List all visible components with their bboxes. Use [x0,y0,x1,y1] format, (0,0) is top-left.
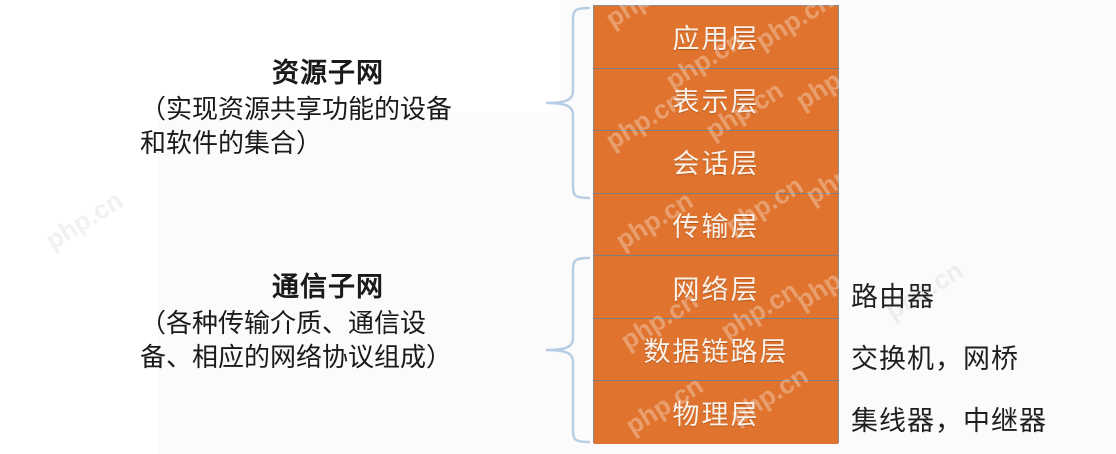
communication-subnet-description-line1: （各种传输介质、通信设 [140,307,538,341]
diagram-canvas: 资源子网 （实现资源共享功能的设备 和软件的集合） 通信子网 （各种传输介质、通… [0,0,1116,454]
resource-subnet-text: 资源子网 （实现资源共享功能的设备 和软件的集合） [118,58,538,161]
device-label-router: 路由器 [851,275,935,314]
layer-application[interactable]: 应用层 [594,6,838,69]
communication-subnet-brace-icon [544,256,590,444]
layer-data-link[interactable]: 数据链路层 [594,319,838,382]
communication-subnet-text: 通信子网 （各种传输介质、通信设 备、相应的网络协议组成） [118,272,538,375]
communication-subnet-description-line2: 备、相应的网络协议组成） [140,341,538,375]
layer-data-link-label: 数据链路层 [644,330,789,369]
communication-subnet-title: 通信子网 [118,272,538,303]
layer-physical-label: 物理层 [673,393,760,432]
layer-presentation-label: 表示层 [673,80,760,119]
osi-layer-stack: 应用层 表示层 会话层 传输层 网络层 数据链路层 物理层 [593,5,839,443]
layer-transport[interactable]: 传输层 [594,194,838,257]
layer-transport-label: 传输层 [673,205,760,244]
layer-physical[interactable]: 物理层 [594,381,838,444]
layer-session-label: 会话层 [673,142,760,181]
device-label-switch-bridge: 交换机，网桥 [851,337,1019,376]
layer-session[interactable]: 会话层 [594,131,838,194]
layer-network[interactable]: 网络层 [594,256,838,319]
device-label-hub-repeater: 集线器，中继器 [851,399,1047,438]
layer-application-label: 应用层 [673,17,760,56]
layer-presentation[interactable]: 表示层 [594,69,838,132]
resource-subnet-description: （实现资源共享功能的设备 和软件的集合） [118,93,538,161]
communication-subnet-description: （各种传输介质、通信设 备、相应的网络协议组成） [118,307,538,375]
layer-network-label: 网络层 [673,268,760,307]
resource-subnet-description-line1: （实现资源共享功能的设备 [140,93,538,127]
resource-subnet-title: 资源子网 [118,58,538,89]
resource-subnet-description-line2: 和软件的集合） [140,127,538,161]
